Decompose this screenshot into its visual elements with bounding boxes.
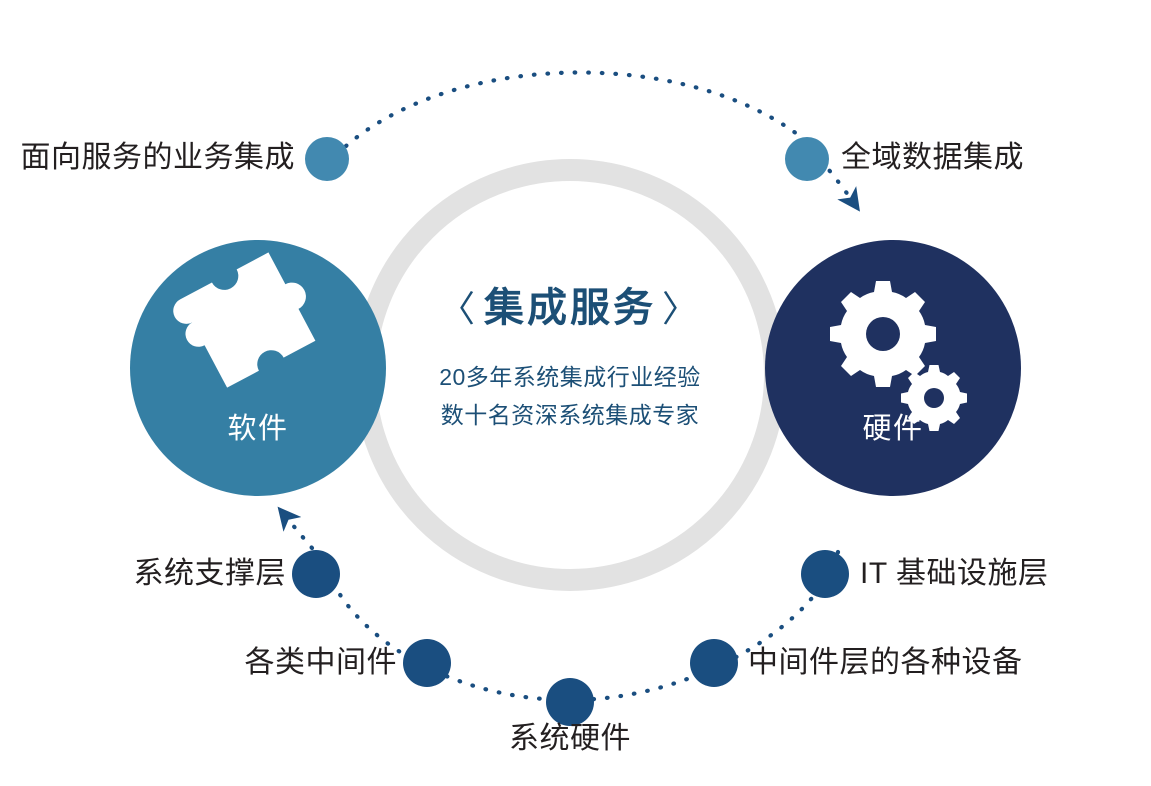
marker-dot-soa[interactable] <box>305 137 349 181</box>
marker-label-middleware: 各类中间件 <box>0 646 397 679</box>
marker-dot-global-data[interactable] <box>785 137 829 181</box>
marker-dot-middleware[interactable] <box>403 639 451 687</box>
node-software[interactable]: 软件 <box>130 240 386 496</box>
marker-label-sys-support: 系统支撑层 <box>0 557 286 590</box>
marker-label-global-data: 全域数据集成 <box>841 141 1024 174</box>
center-text-block: 〈集成服务〉 20多年系统集成行业经验 数十名资深系统集成专家 <box>370 275 770 435</box>
center-subtitle-line-1: 20多年系统集成行业经验 <box>370 359 770 397</box>
integration-service-diagram: 软件 硬件 <box>0 0 1151 786</box>
marker-dot-mw-devices[interactable] <box>690 639 738 687</box>
center-subtitle-line-2: 数十名资深系统集成专家 <box>370 397 770 435</box>
marker-label-soa: 面向服务的业务集成 <box>0 141 295 174</box>
center-subtitle: 20多年系统集成行业经验 数十名资深系统集成专家 <box>370 359 770 435</box>
center-title-text: 集成服务 <box>484 286 656 330</box>
hardware-label: 硬件 <box>862 412 923 445</box>
marker-dot-sys-support[interactable] <box>292 550 340 598</box>
software-label: 软件 <box>227 412 288 445</box>
marker-dot-sys-hardware[interactable] <box>546 678 594 726</box>
node-hardware[interactable]: 硬件 <box>765 240 1021 496</box>
marker-label-sys-hardware: 系统硬件 <box>450 722 690 755</box>
marker-label-mw-devices: 中间件层的各种设备 <box>748 646 1023 679</box>
marker-label-it-infra: IT 基础设施层 <box>860 557 1048 590</box>
marker-dot-it-infra[interactable] <box>801 550 849 598</box>
center-title-close-bracket: 〉 <box>656 288 707 329</box>
top-dotted-arc <box>346 73 812 147</box>
center-title-open-bracket: 〈 <box>433 288 484 329</box>
center-title: 〈集成服务〉 <box>370 275 770 333</box>
bottom-arc-arrow-segment <box>282 512 312 548</box>
